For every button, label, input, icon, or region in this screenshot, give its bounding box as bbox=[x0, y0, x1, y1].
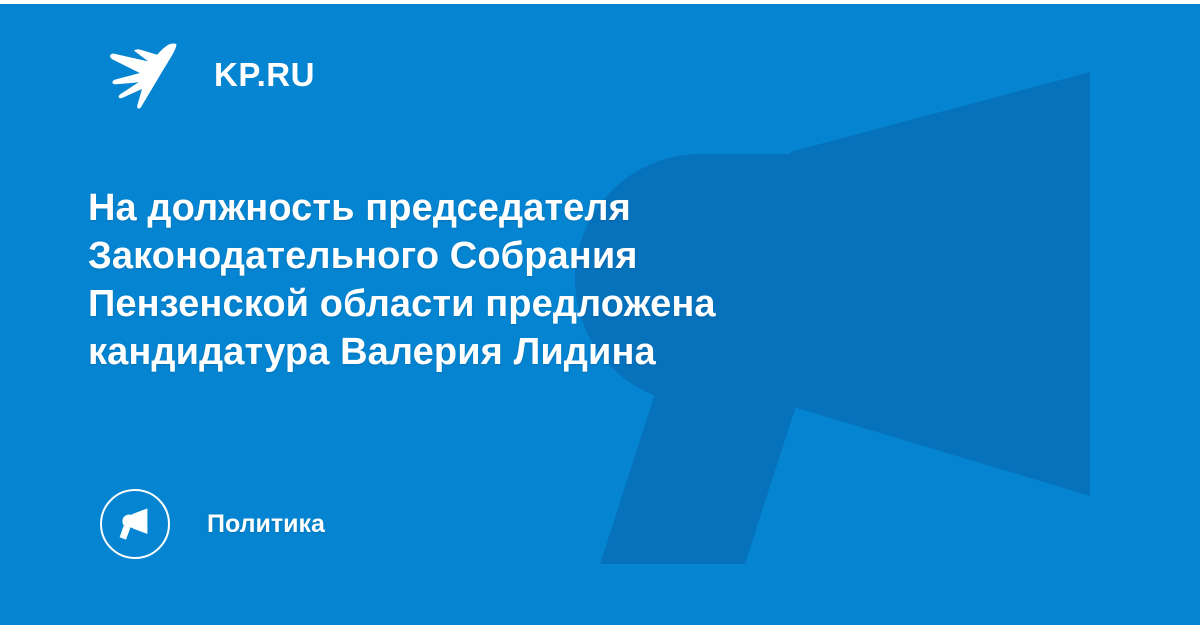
brand-logo[interactable]: KP.RU bbox=[108, 38, 315, 110]
megaphone-icon bbox=[116, 507, 154, 541]
headline-line-4: кандидатура Валерия Лидина bbox=[88, 328, 988, 376]
headline-line-3: Пензенской области предложена bbox=[88, 280, 988, 328]
brand-wordmark: KP.RU bbox=[214, 58, 315, 91]
category-badge[interactable]: Политика bbox=[100, 488, 325, 560]
category-icon-circle bbox=[100, 489, 170, 559]
category-label: Политика bbox=[207, 512, 325, 537]
page-title: На должность председателя Законодательно… bbox=[88, 184, 988, 376]
card-canvas: KP.RU На должность председателя Законода… bbox=[0, 4, 1200, 625]
headline-line-1: На должность председателя bbox=[88, 184, 988, 232]
share-card: KP.RU На должность председателя Законода… bbox=[0, 0, 1200, 630]
headline-line-2: Законодательного Собрания bbox=[88, 232, 988, 280]
swallow-bird-icon bbox=[108, 38, 184, 110]
